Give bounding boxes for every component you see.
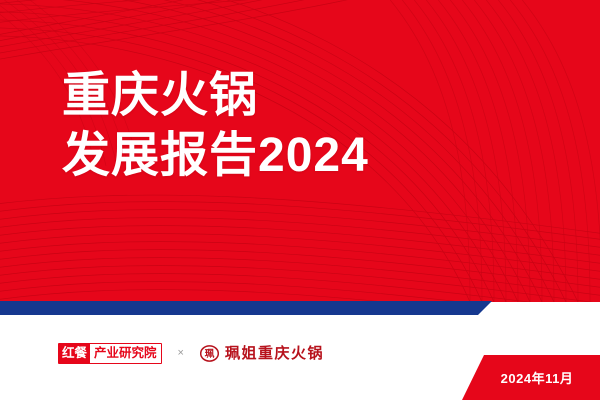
blue-accent-bar bbox=[0, 301, 492, 315]
page-title: 重庆火锅 发展报告2024 bbox=[62, 66, 369, 186]
date-badge-label: 2024年11月 bbox=[489, 368, 574, 387]
title-line-1: 重庆火锅 bbox=[62, 66, 369, 126]
hongcan-institute-logo[interactable]: 红餐 产业研究院 bbox=[58, 343, 162, 364]
peijie-hotpot-logo[interactable]: 珮 珮姐重庆火锅 bbox=[200, 344, 324, 363]
peijie-seal-icon: 珮 bbox=[200, 344, 219, 363]
hongcan-logo-mark: 红餐 bbox=[59, 344, 90, 363]
svg-text:珮: 珮 bbox=[205, 349, 215, 360]
date-badge: 2024年11月 bbox=[462, 355, 600, 400]
hero-red-panel: 重庆火锅 发展报告2024 bbox=[0, 0, 600, 302]
report-cover-slide: 重庆火锅 发展报告2024 红餐 产业研究院 × 珮 bbox=[0, 0, 600, 400]
hongcan-logo-wordmark: 产业研究院 bbox=[90, 344, 161, 363]
collaboration-cross-icon: × bbox=[176, 348, 186, 359]
partner-logos: 红餐 产业研究院 × 珮 珮姐重庆火锅 bbox=[58, 343, 324, 364]
title-line-2: 发展报告2024 bbox=[62, 126, 369, 186]
peijie-logo-wordmark: 珮姐重庆火锅 bbox=[225, 344, 324, 363]
